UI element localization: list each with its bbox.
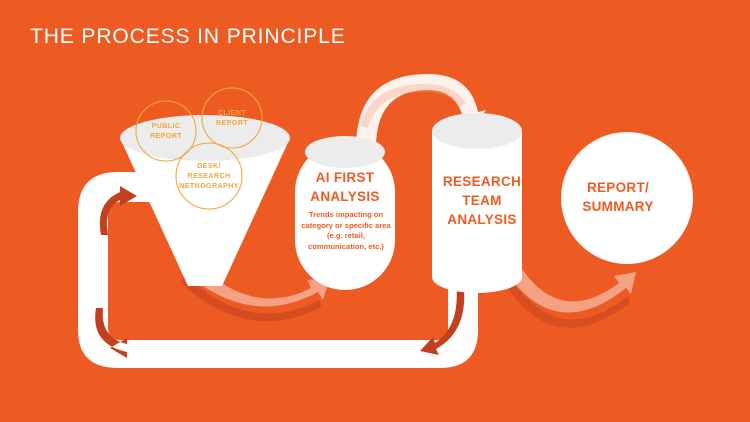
stage-report-summary[interactable] [561,132,693,264]
connector-research-to-report [506,266,636,328]
stage-ai-first-analysis[interactable] [295,136,395,290]
stage-research-team-analysis[interactable] [432,113,522,293]
process-diagram [0,0,750,422]
feedback-loop-band [78,172,478,368]
slide-canvas: THE PROCESS IN PRINCIPLE [0,0,750,422]
